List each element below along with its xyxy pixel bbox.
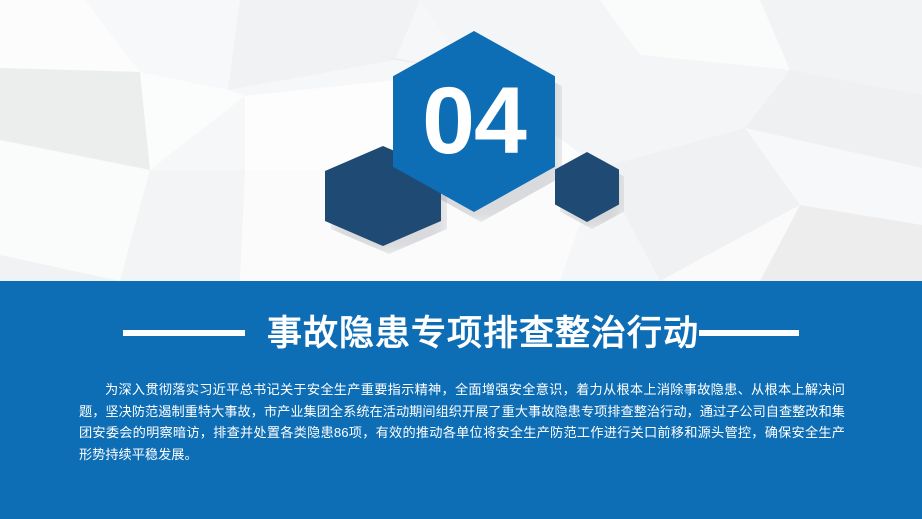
section-number: 04 xyxy=(393,31,555,212)
title-row: 事故隐患专项排查整治行动 xyxy=(0,305,922,361)
title-rule-left-decoration xyxy=(123,330,245,336)
page-title: 事故隐患专项排查整治行动 xyxy=(267,316,699,351)
slide-root: 04 事故隐患专项排查整治行动 为深入贯彻落实习近平总书记关于安全生产重要指示精… xyxy=(0,0,922,519)
title-rule-right-decoration xyxy=(699,330,799,336)
hero-background: 04 xyxy=(0,0,922,281)
body-paragraph: 为深入贯彻落实习近平总书记关于安全生产重要指示精神，全面增强安全意识，着力从根本… xyxy=(79,379,845,465)
